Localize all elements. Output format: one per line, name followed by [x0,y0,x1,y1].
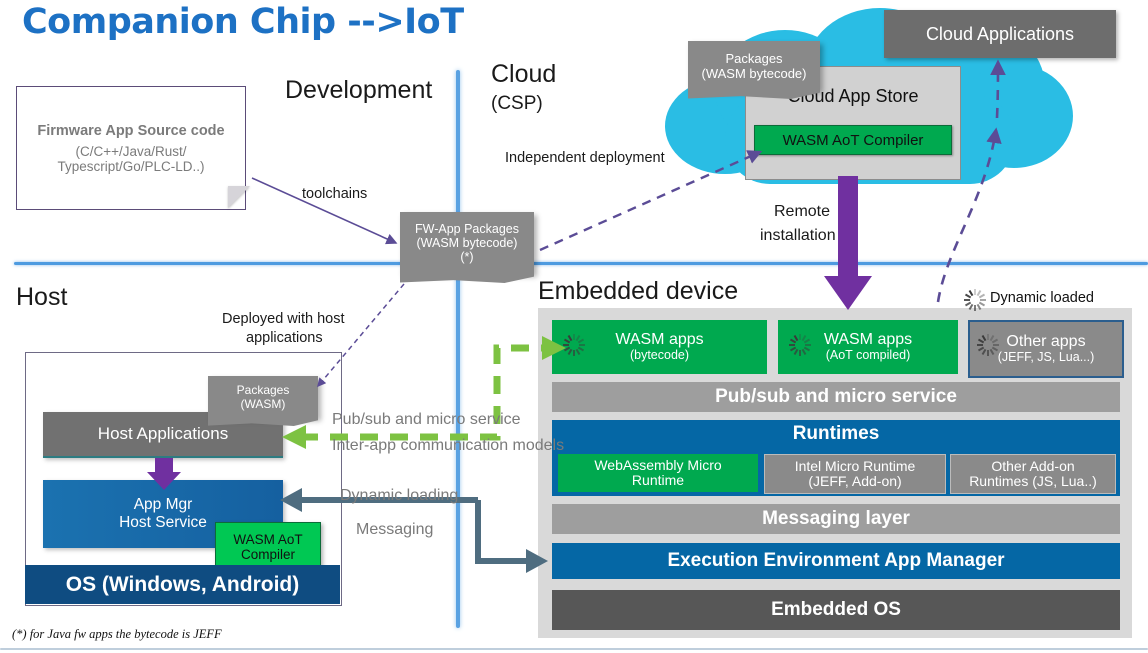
embedded-runtime-0-line1: WebAssembly Micro [594,458,721,473]
host-aot-line1: WASM AoT [233,532,302,547]
label-remote-installation-line1: Remote [774,203,830,221]
embedded-runtimes-title: Runtimes [793,424,880,445]
embedded-runtime-1-line1: Intel Micro Runtime [795,459,916,474]
spinner-icon [788,334,810,356]
label-toolchains: toolchains [302,186,367,203]
page-title: Companion Chip -->IoT [22,2,464,42]
fw-app-packages-line3: (*) [460,250,473,264]
label-messaging: Messaging [356,521,433,539]
app-mgr-line2: Host Service [119,514,207,532]
cloud-packages-callout: Packages (WASM bytecode) [688,41,820,90]
embedded-runtime-intel[interactable]: Intel Micro Runtime (JEFF, Add-on) [764,454,946,494]
embedded-app-2-name: Other apps [1006,333,1085,351]
embedded-messaging-layer-bar[interactable]: Messaging layer [552,504,1120,534]
host-packages-line1: Packages [237,383,290,397]
label-dynamic-loading: Dynamic loading [340,487,458,505]
footnote: (*) for Java fw apps the bytecode is JEF… [12,627,222,642]
embedded-runtime-wamr[interactable]: WebAssembly Micro Runtime [558,454,758,492]
embedded-app-0-name: WASM apps [615,331,703,349]
cloud-wasm-aot-compiler-box[interactable]: WASM AoT Compiler [754,125,952,155]
embedded-messaging-layer-label: Messaging layer [762,509,910,530]
host-applications-label: Host Applications [98,424,228,444]
firmware-source-box[interactable]: Firmware App Source code (C/C++/Java/Rus… [16,86,246,210]
label-deployed-with-host-line1: Deployed with host [222,311,345,328]
horizontal-divider-top-right [458,262,1148,265]
zone-heading-development: Development [285,76,432,105]
embedded-app-wasm-bytecode[interactable]: WASM apps (bytecode) [552,320,767,374]
firmware-source-fold-corner [228,186,250,208]
label-pubsub-micro-service: Pub/sub and micro service [332,411,521,429]
horizontal-divider-top [14,262,458,265]
embedded-runtime-2-line2: Runtimes (JS, Lua..) [969,474,1097,489]
embedded-app-0-sub: (bytecode) [630,349,689,363]
spinner-icon [562,334,584,356]
zone-heading-embedded-device: Embedded device [538,277,738,306]
embedded-os-bar[interactable]: Embedded OS [552,590,1120,630]
firmware-source-line3: Typescript/Go/PLC-LD..) [57,159,204,174]
cloud-packages-line1: Packages [725,51,782,66]
embedded-pubsub-label: Pub/sub and micro service [715,387,957,408]
host-packages-callout: Packages (WASM) [208,376,318,418]
embedded-os-label: Embedded OS [771,600,901,621]
host-os-label: OS (Windows, Android) [66,573,300,597]
arrow-messaging [478,500,528,561]
label-deployed-with-host-line2: applications [246,330,323,347]
zone-heading-cloud: Cloud [491,60,556,89]
embedded-runtime-other[interactable]: Other Add-on Runtimes (JS, Lua..) [950,454,1116,494]
embedded-app-1-name: WASM apps [824,331,912,349]
embedded-runtime-0-line2: Runtime [632,473,684,488]
spinner-icon [976,334,998,356]
embedded-app-manager-label: Execution Environment App Manager [667,551,1004,572]
embedded-app-manager-bar[interactable]: Execution Environment App Manager [552,543,1120,579]
cloud-packages-line2: (WASM bytecode) [702,66,807,81]
host-aot-line2: Compiler [241,547,295,562]
label-inter-app-communication: Inter-app communication models [332,437,564,455]
cloud-applications-label: Cloud Applications [926,24,1074,45]
zone-subheading-cloud-csp: (CSP) [491,93,543,115]
spinner-icon [963,289,985,311]
legend-dynamic-loaded-label: Dynamic loaded [990,290,1094,306]
firmware-source-heading: Firmware App Source code [37,123,224,139]
embedded-pubsub-bar[interactable]: Pub/sub and micro service [552,382,1120,412]
host-packages-line2: (WASM) [241,397,286,411]
embedded-runtime-1-line2: (JEFF, Add-on) [808,474,901,489]
embedded-app-1-sub: (AoT compiled) [826,349,911,363]
host-os-box[interactable]: OS (Windows, Android) [25,565,340,604]
cloud-applications-box[interactable]: Cloud Applications [884,10,1116,58]
fw-app-packages-callout: FW-App Packages (WASM bytecode) (*) [400,212,534,274]
zone-heading-host: Host [16,283,67,312]
fw-app-packages-line1: FW-App Packages [415,222,519,236]
app-mgr-line1: App Mgr [134,496,193,514]
fw-app-packages-line2: (WASM bytecode) [417,236,518,250]
embedded-app-2-sub: (JEFF, JS, Lua...) [998,351,1095,365]
label-independent-deployment: Independent deployment [505,150,665,167]
label-remote-installation-line2: installation [760,227,836,245]
embedded-runtime-2-line1: Other Add-on [991,459,1074,474]
horizontal-divider-bottom [0,648,1148,650]
cloud-wasm-aot-compiler-label: WASM AoT Compiler [783,132,924,149]
firmware-source-line2: (C/C++/Java/Rust/ [75,144,186,159]
